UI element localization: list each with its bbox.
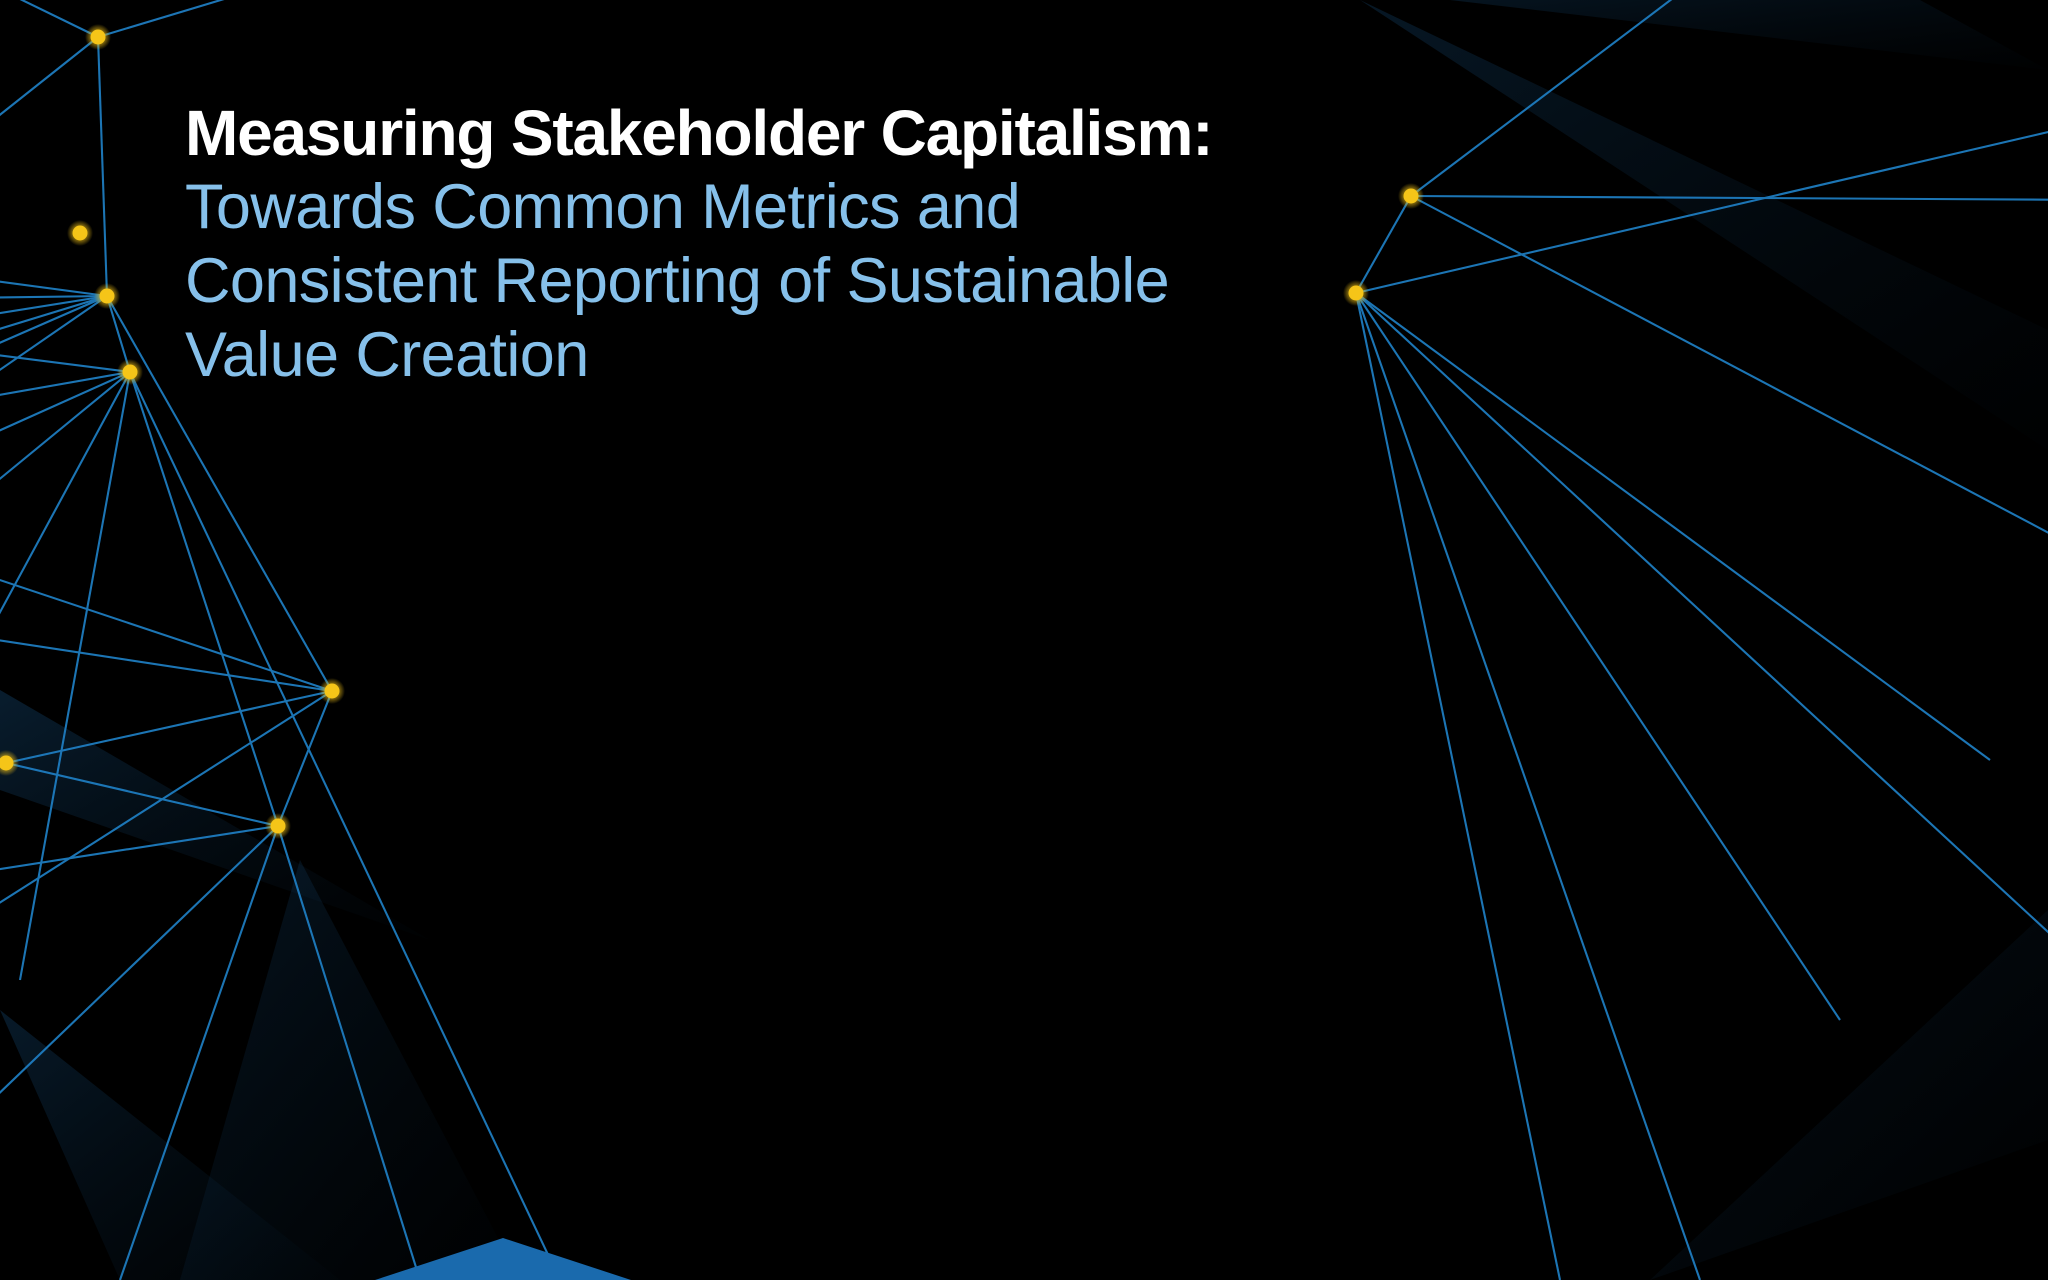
network-edge [0, 0, 98, 37]
network-node [325, 684, 340, 699]
network-node-glow [0, 750, 19, 776]
network-edge [1411, 196, 2048, 560]
network-edge [1356, 293, 2048, 980]
network-node [91, 30, 106, 45]
network-edge [6, 691, 332, 763]
network-node-glow [85, 24, 111, 50]
network-edge [20, 372, 130, 980]
network-edge [278, 691, 332, 826]
network-node [271, 819, 286, 834]
network-edge [130, 372, 278, 826]
network-edge [1356, 293, 1700, 1280]
cover-page: Measuring Stakeholder Capitalism: Toward… [0, 0, 2048, 1280]
network-node [73, 226, 88, 241]
network-edge [130, 372, 560, 1280]
network-edge [0, 372, 130, 430]
network-node [0, 756, 14, 771]
page-subtitle-line-2: Consistent Reporting of Sustainable [185, 244, 1485, 318]
network-node [123, 365, 138, 380]
page-subtitle-line-3: Value Creation [185, 318, 1485, 392]
network-edge [0, 296, 107, 300]
network-edge [0, 330, 130, 372]
network-edge [98, 0, 420, 37]
network-edge [0, 296, 107, 480]
network-edge [0, 610, 332, 691]
network-node-glow [94, 283, 120, 309]
network-edge [0, 826, 278, 1150]
network-node [100, 289, 115, 304]
title-block: Measuring Stakeholder Capitalism: Toward… [185, 96, 1485, 392]
network-edge [6, 763, 278, 826]
network-edge [120, 826, 278, 1280]
network-node-glow [319, 678, 345, 704]
network-edge [0, 700, 6, 763]
network-edge [0, 296, 107, 390]
page-subtitle-line-1: Towards Common Metrics and [185, 170, 1485, 244]
network-edge [0, 296, 107, 430]
network-edge [1356, 293, 1560, 1280]
network-node-glow [117, 359, 143, 385]
network-node-glow [265, 813, 291, 839]
network-edge [98, 37, 107, 296]
network-edge [1411, 196, 2048, 200]
network-edge [0, 826, 278, 900]
network-edge [0, 372, 130, 520]
network-edge [0, 560, 332, 691]
network-edge [0, 37, 98, 210]
network-edge [0, 691, 332, 1030]
network-edge [1356, 293, 1840, 1020]
network-edge [0, 296, 107, 345]
network-edge [0, 372, 130, 610]
network-edge [107, 296, 130, 372]
network-edge [278, 826, 420, 1280]
network-node-glow [67, 220, 93, 246]
network-edge [0, 255, 107, 296]
network-edge [0, 372, 130, 760]
page-title: Measuring Stakeholder Capitalism: [185, 96, 1485, 170]
accent-triangle-icon [375, 1238, 631, 1280]
